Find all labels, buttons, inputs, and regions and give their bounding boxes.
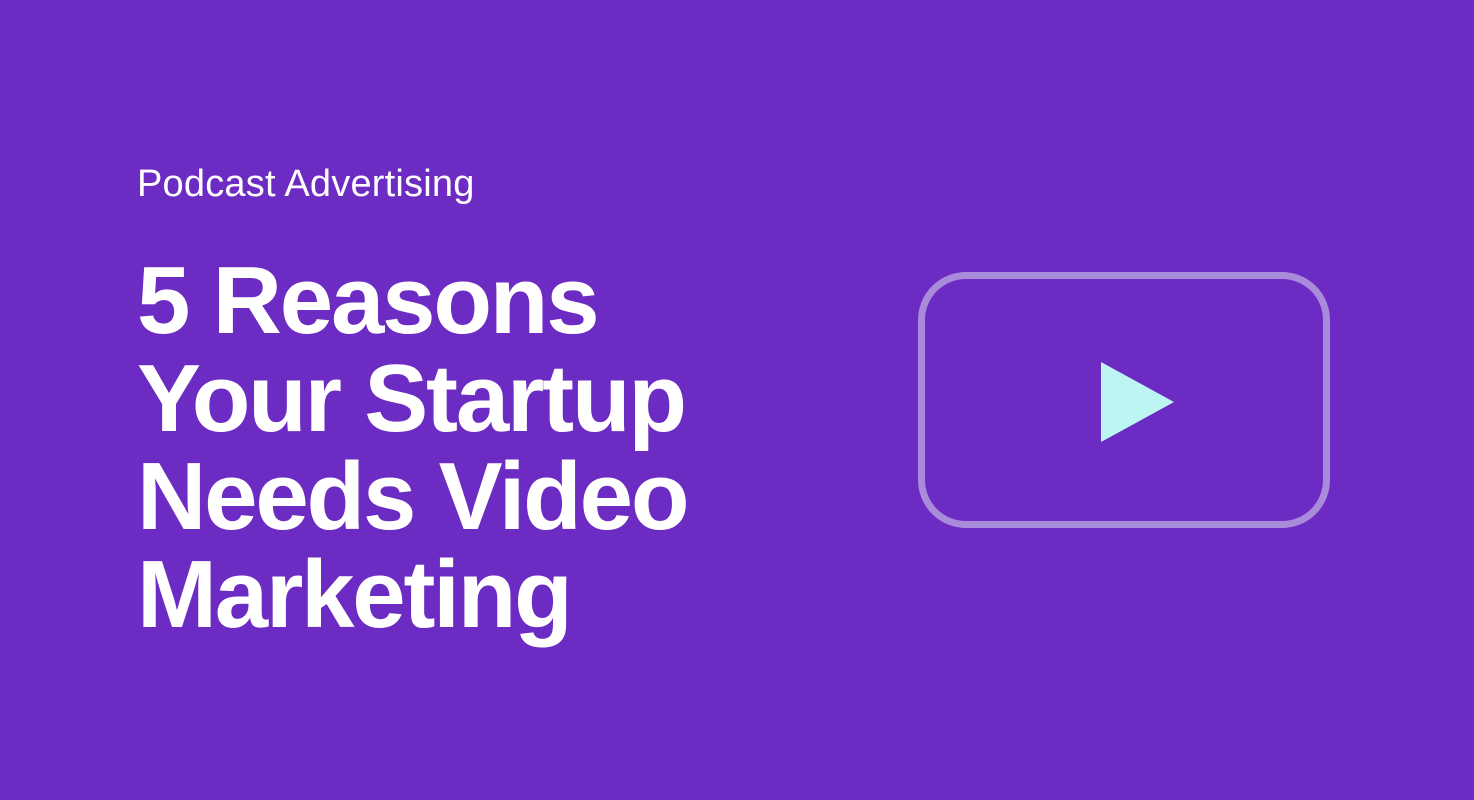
headline-line-1: 5 Reasons [137,252,837,350]
text-block: Podcast Advertising 5 Reasons Your Start… [137,160,837,644]
headline-line-2: Your Startup [137,350,837,448]
video-play-button[interactable] [918,272,1330,528]
slide-canvas: Podcast Advertising 5 Reasons Your Start… [0,0,1474,800]
headline-line-3: Needs Video [137,448,837,546]
page-title: 5 Reasons Your Startup Needs Video Marke… [137,252,837,644]
play-triangle-icon [1101,362,1174,442]
headline-line-4: Marketing [137,546,837,644]
eyebrow-label: Podcast Advertising [137,160,837,208]
